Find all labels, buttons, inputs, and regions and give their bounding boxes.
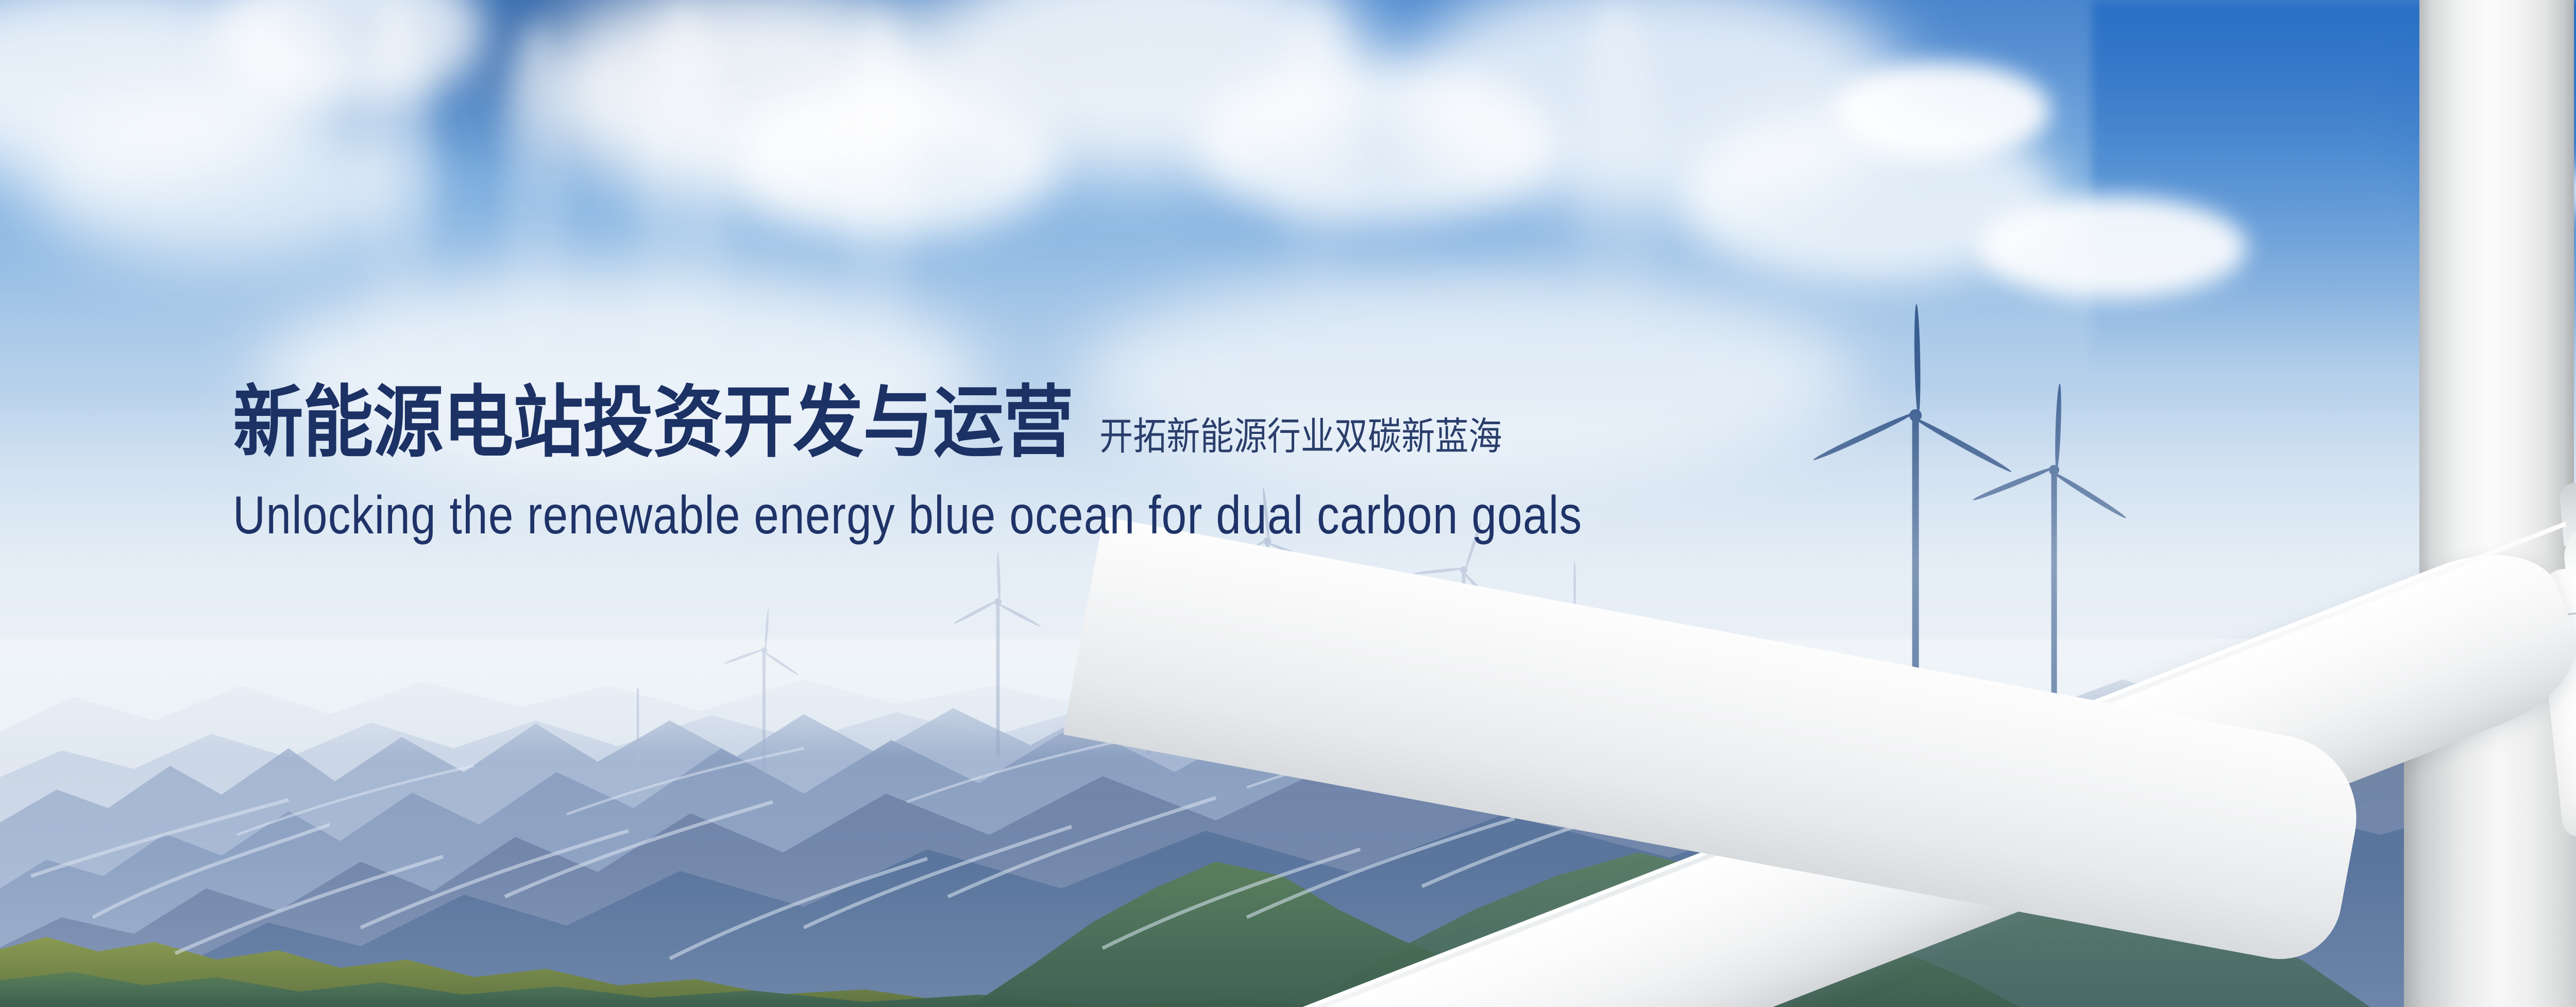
distant-wind-turbine bbox=[959, 602, 1037, 757]
page-subtitle: 开拓新能源行业双碳新蓝海 bbox=[1099, 417, 1502, 459]
banner-copy: 新能源电站投资开发与运营 开拓新能源行业双碳新蓝海 Unlocking the … bbox=[233, 383, 1778, 542]
distant-wind-turbine bbox=[731, 650, 798, 775]
headline-row: 新能源电站投资开发与运营 开拓新能源行业双碳新蓝海 bbox=[233, 383, 1778, 462]
hero-banner: 运达风电 WINDEY 新能源电站投资开发与运营 开拓新能源行业双碳新蓝海 Un… bbox=[0, 0, 2576, 1007]
turbine-blade bbox=[1573, 561, 1576, 608]
turbine-blade bbox=[762, 650, 799, 676]
page-subtitle-english: Unlocking the renewable energy blue ocea… bbox=[233, 489, 1531, 542]
page-title: 新能源电站投资开发与运营 bbox=[233, 383, 1073, 462]
met-mast bbox=[637, 689, 639, 764]
turbine-blade bbox=[953, 599, 998, 625]
foreground-wind-turbine: 运达风电 WINDEY bbox=[1989, 0, 2576, 1007]
turbine-blade bbox=[996, 602, 1042, 628]
